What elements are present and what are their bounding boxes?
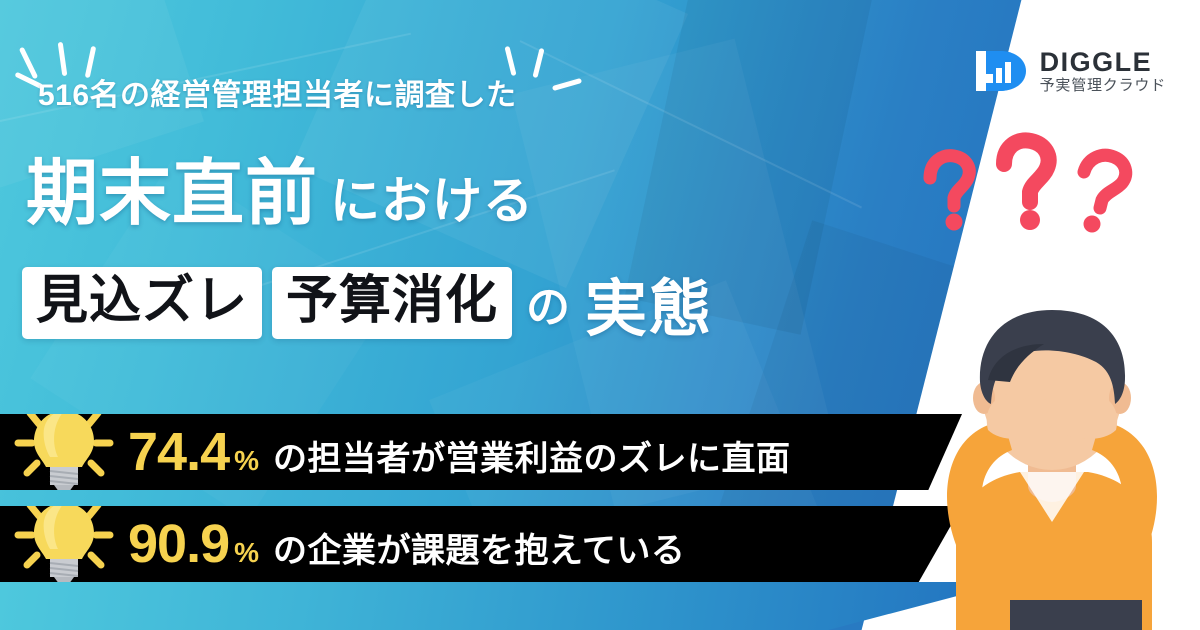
headline-connector: における — [330, 161, 534, 233]
stat-1-label: の担当者が営業利益のズレに直面 — [273, 431, 791, 480]
stat-2-value: 90.9 — [128, 517, 229, 571]
promo-banner: 516名の経営管理担当者に調査した 期末直前 における 見込ズレ 予算消化 の … — [0, 0, 1200, 630]
stat-1-value: 74.4 — [128, 425, 229, 479]
stat-2-unit: % — [234, 537, 259, 569]
stat-1-text: 74.4 % の担当者が営業利益のズレに直面 — [128, 425, 791, 480]
headline-connector-2: の — [522, 271, 575, 335]
headline-emphasis-2: 実態 — [585, 258, 713, 348]
logo-text-block: DIGGLE 予実管理クラウド — [1040, 49, 1166, 93]
stat-2-text: 90.9 % の企業が課題を抱えている — [128, 517, 685, 572]
headline-emphasis: 期末直前 — [26, 134, 318, 239]
stat-2-label: の企業が課題を抱えている — [273, 523, 685, 572]
keyword-chip-1: 見込ズレ — [22, 267, 262, 339]
keyword-chip-2: 予算消化 — [272, 267, 512, 339]
headline-line-1: 期末直前 における — [26, 134, 534, 239]
headline-line-2: 見込ズレ 予算消化 の 実態 — [22, 258, 713, 348]
lightbulb-icon — [0, 506, 128, 582]
kicker-text: 516名の経営管理担当者に調査した — [38, 70, 517, 114]
brand-name: DIGGLE — [1040, 49, 1166, 76]
lightbulb-icon — [0, 414, 128, 490]
brand-logo[interactable]: DIGGLE 予実管理クラウド — [976, 48, 1166, 94]
diggle-logo-mark — [976, 48, 1028, 94]
stat-1-unit: % — [234, 445, 259, 477]
question-marks-icon — [912, 130, 1142, 260]
brand-tagline: 予実管理クラウド — [1040, 78, 1166, 93]
stat-bar-1: 74.4 % の担当者が営業利益のズレに直面 — [0, 414, 962, 490]
stat-bar-2: 90.9 % の企業が課題を抱えている — [0, 506, 962, 582]
